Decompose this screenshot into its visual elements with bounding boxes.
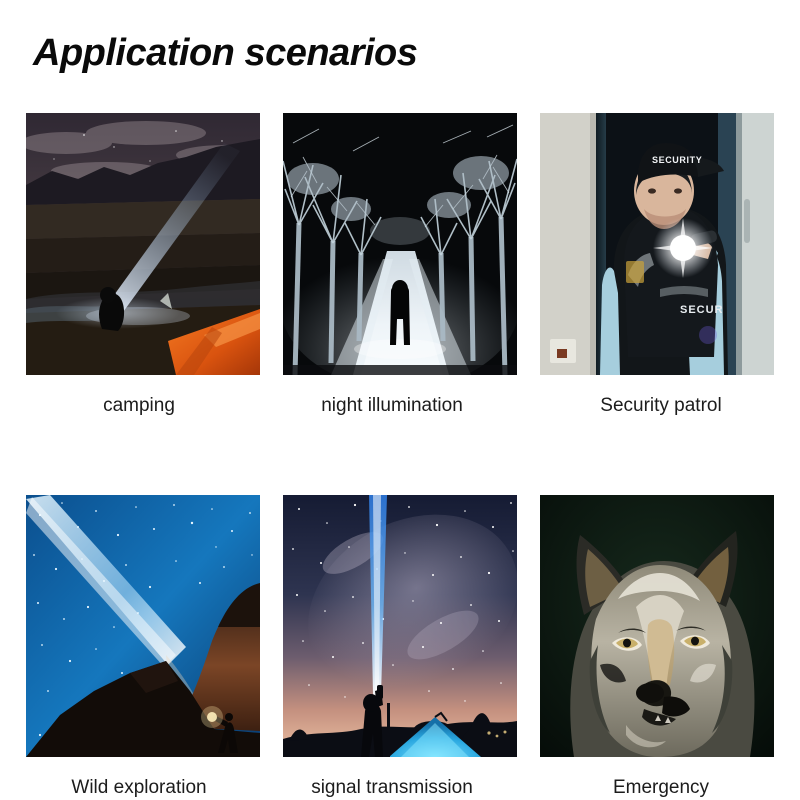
- scenario-cell-signal-transmission[interactable]: signal transmission: [283, 495, 517, 799]
- scenario-caption-night-illumination: night illumination: [275, 396, 509, 417]
- scenario-gallery: camping: [26, 113, 775, 799]
- scenario-cell-camping[interactable]: camping: [26, 113, 260, 417]
- vest-text: SECUR: [680, 304, 724, 316]
- scenario-image-wild-exploration[interactable]: [26, 495, 260, 757]
- application-scenarios-page: Application scenarios: [0, 0, 800, 800]
- scenario-image-security-patrol[interactable]: SECUR SECURITY: [540, 113, 774, 375]
- gallery-row: Wild exploration: [26, 495, 775, 799]
- scenario-caption-signal-transmission: signal transmission: [275, 778, 509, 799]
- scenario-image-camping[interactable]: [26, 113, 260, 375]
- page-title: Application scenarios: [33, 32, 417, 75]
- gallery-row: camping: [26, 113, 775, 417]
- scenario-image-emergency[interactable]: [540, 495, 774, 757]
- scenario-image-night-illumination[interactable]: [283, 113, 517, 375]
- scenario-caption-emergency: Emergency: [544, 778, 778, 799]
- scenario-caption-wild-exploration: Wild exploration: [22, 778, 256, 799]
- scenario-caption-camping: camping: [22, 396, 256, 417]
- scenario-caption-security-patrol: Security patrol: [544, 396, 778, 417]
- scenario-cell-wild-exploration[interactable]: Wild exploration: [26, 495, 260, 799]
- scenario-cell-security-patrol[interactable]: SECUR SECURITY: [540, 113, 774, 417]
- scenario-cell-emergency[interactable]: Emergency: [540, 495, 774, 799]
- cap-text: SECURITY: [652, 155, 702, 165]
- scenario-image-signal-transmission[interactable]: [283, 495, 517, 757]
- scenario-cell-night-illumination[interactable]: night illumination: [283, 113, 517, 417]
